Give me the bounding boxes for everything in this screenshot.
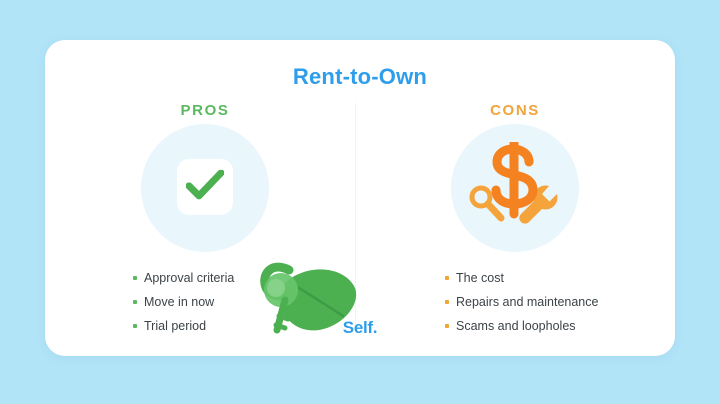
list-item-label: Repairs and maintenance (456, 295, 598, 309)
cons-heading: CONS (365, 102, 665, 119)
bullet-dot-icon (133, 300, 137, 304)
list-item-label: The cost (456, 271, 504, 285)
green-checkmark-icon (186, 169, 224, 204)
list-item-label: Move in now (144, 295, 214, 309)
brand-logo: Self. (45, 318, 675, 338)
bullet-dot-icon (133, 276, 137, 280)
cons-column: CONS (365, 102, 665, 332)
list-item: Repairs and maintenance (445, 290, 675, 314)
dollar-sign-icon (463, 142, 567, 234)
checkmark-plate (177, 159, 233, 215)
cons-icon-circle (451, 124, 579, 252)
pros-column: PROS Approval criteria Move (55, 102, 355, 332)
pros-heading: PROS (55, 102, 355, 119)
pros-icon-circle (141, 124, 269, 252)
bullet-dot-icon (445, 300, 449, 304)
list-item-label: Approval criteria (144, 271, 234, 285)
infographic-stage: Rent-to-Own PROS Approval criteria (0, 0, 720, 404)
page-title: Rent-to-Own (45, 64, 675, 90)
bullet-dot-icon (445, 276, 449, 280)
list-item: The cost (445, 266, 675, 290)
content-card: Rent-to-Own PROS Approval criteria (45, 40, 675, 356)
